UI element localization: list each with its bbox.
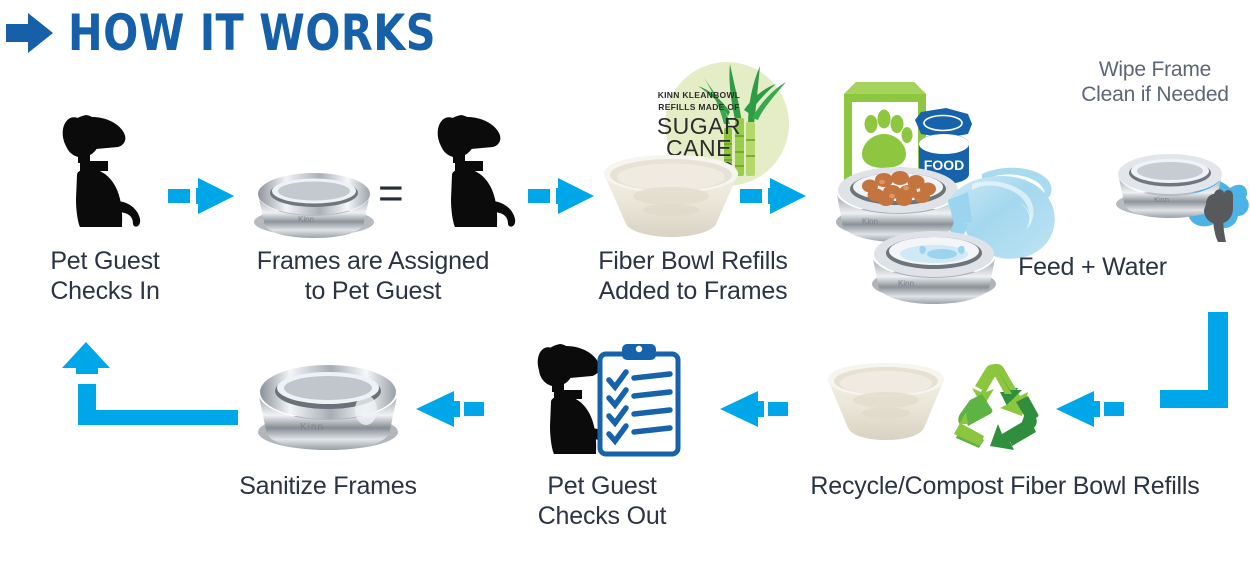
page-title: HOW IT WORKS	[68, 8, 436, 58]
caption-fiber-bowl-refills: Fiber Bowl Refills Added to Frames	[548, 247, 838, 306]
infographic-canvas: HOW IT WORKS	[0, 0, 1250, 573]
kibble-bowl-icon: Kinn	[836, 167, 960, 242]
up-arrow-elbow-icon	[58, 338, 238, 428]
caption-feed-and-water: Feed + Water	[980, 253, 1205, 283]
right-arrow-icon	[6, 11, 54, 55]
bowl-brand-label: Kinn	[862, 217, 878, 226]
wipe-frame-icon: Kinn	[1110, 130, 1250, 245]
caption-pet-guest-checks-in: Pet Guest Checks In	[10, 247, 200, 306]
bowl-brand-label: Kinn	[898, 279, 914, 288]
bowl-brand-label: Kinn	[300, 422, 324, 433]
equals-sign: =	[378, 172, 404, 216]
elbow-connector-icon	[1160, 312, 1230, 424]
right-arrow-icon	[168, 176, 236, 216]
dog-clipboard-icon	[512, 336, 692, 466]
caption-pet-guest-checks-out: Pet Guest Checks Out	[500, 472, 704, 531]
caption-frames-assigned: Frames are Assigned to Pet Guest	[228, 247, 518, 306]
caption-sanitize-frames: Sanitize Frames	[198, 472, 458, 502]
left-arrow-icon	[414, 388, 484, 430]
bowl-brand-label: Kinn	[1154, 195, 1169, 204]
dog-silhouette-icon	[30, 105, 165, 230]
badge-line-1: KINN KLEANBOWL	[658, 90, 741, 100]
caption-recycle-compost: Recycle/Compost Fiber Bowl Refills	[762, 472, 1248, 502]
fiber-bowl-icon	[822, 360, 950, 442]
right-arrow-icon	[528, 176, 596, 216]
left-arrow-icon	[718, 388, 788, 430]
page-title-block: HOW IT WORKS	[6, 8, 468, 58]
steel-bowl-frame-icon: Kinn	[248, 348, 408, 458]
kibble-bag-icon	[844, 82, 926, 182]
fiber-bowl-icon	[596, 152, 746, 240]
caption-wipe-frame: Wipe Frame Clean if Needed	[1060, 58, 1250, 108]
left-arrow-icon	[1054, 388, 1124, 430]
dog-silhouette-icon	[405, 105, 540, 230]
hand-icon	[1204, 189, 1233, 242]
clipboard-icon	[600, 344, 678, 454]
water-bowl-icon: Kinn	[872, 231, 996, 304]
right-arrow-icon	[740, 176, 808, 216]
bowl-brand-label: Kinn	[298, 215, 314, 224]
badge-line-2: REFILLS MADE OF	[658, 102, 739, 112]
recycle-icon	[950, 362, 1042, 452]
steel-bowl-frame-icon: Kinn	[248, 160, 380, 240]
